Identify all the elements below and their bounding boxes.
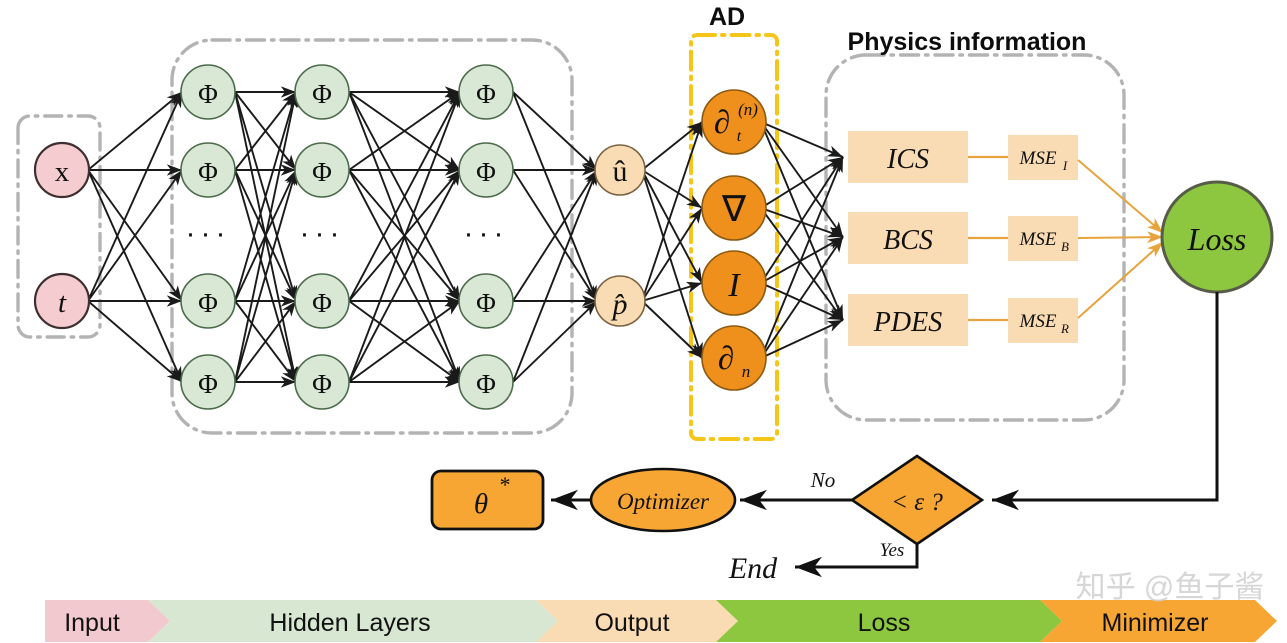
output-node-u[interactable]: û <box>595 145 645 195</box>
physics-box-pdes-label: PDES <box>873 307 942 338</box>
hidden-layer-1: Φ Φ ··· Φ Φ <box>181 65 235 409</box>
theta-sup: * <box>499 472 510 497</box>
hidden-node-label: Φ <box>312 369 332 399</box>
theta-label: θ <box>474 488 488 520</box>
loss-label: Loss <box>1187 221 1247 257</box>
hidden-layer-ellipsis: ··· <box>186 217 231 250</box>
physics-box-ics-label: ICS <box>886 144 929 175</box>
banner-segment-input[interactable]: Input <box>45 600 170 642</box>
links-physics-to-mse <box>968 157 1008 320</box>
optimizer-label: Optimizer <box>617 489 710 514</box>
ad-node-dn[interactable]: ∂ n <box>702 326 766 390</box>
no-label: No <box>810 468 836 492</box>
ad-node-dt-sub: t <box>737 128 742 145</box>
hidden-node-label: Φ <box>198 157 218 187</box>
input-node-x[interactable]: x <box>35 143 89 197</box>
physics-title: Physics information <box>848 28 1087 56</box>
links-mse-to-loss <box>1078 160 1163 318</box>
mse-box-r[interactable]: MSE R <box>1008 298 1078 343</box>
hidden-node[interactable]: Φ <box>181 274 235 328</box>
loss-circle[interactable]: Loss <box>1162 182 1272 292</box>
hidden-node[interactable]: Φ <box>459 143 513 197</box>
stage-banner: Input Hidden Layers Output Loss Minimize… <box>45 600 1277 642</box>
hidden-node[interactable]: Φ <box>181 65 235 119</box>
mse-box-i-sub: I <box>1062 158 1068 173</box>
hidden-node[interactable]: Φ <box>295 355 349 409</box>
mse-box-b-sub: B <box>1061 239 1069 254</box>
mse-box-i-label: MSE <box>1019 148 1057 169</box>
banner-segment-loss-label: Loss <box>858 609 911 637</box>
yes-label: Yes <box>880 540 905 561</box>
hidden-node-label: Φ <box>198 79 218 109</box>
mse-box-i[interactable]: MSE I <box>1008 135 1078 180</box>
ad-node-i-base: I <box>727 267 741 304</box>
diagram-canvas: AD Physics information <box>0 0 1287 643</box>
output-node-p[interactable]: p̂ <box>595 276 645 326</box>
physics-box-bcs[interactable]: BCS <box>848 212 968 264</box>
hidden-node-label: Φ <box>312 79 332 109</box>
hidden-node-label: Φ <box>312 288 332 318</box>
edges-ad-to-physics <box>761 122 843 358</box>
ad-title: AD <box>709 3 745 31</box>
hidden-layer-ellipsis: ··· <box>300 217 345 250</box>
yes-branch: Yes End <box>728 540 917 585</box>
banner-segment-output[interactable]: Output <box>536 600 738 642</box>
hidden-node[interactable]: Φ <box>459 65 513 119</box>
hidden-node-label: Φ <box>198 369 218 399</box>
banner-segment-loss[interactable]: Loss <box>716 600 1062 642</box>
hidden-node[interactable]: Φ <box>295 65 349 119</box>
hidden-layer-3: Φ Φ ··· Φ Φ <box>459 65 513 409</box>
watermark: 知乎 @鱼子酱 <box>1076 571 1265 604</box>
ad-node-dt-base: ∂ <box>714 105 730 141</box>
optimizer-node[interactable]: Optimizer <box>591 469 735 531</box>
mse-box-r-label: MSE <box>1019 311 1057 332</box>
ad-node-i[interactable]: I <box>702 251 766 315</box>
hidden-node[interactable]: Φ <box>459 274 513 328</box>
decision-diamond[interactable]: < ε ? <box>852 456 982 544</box>
hidden-node[interactable]: Φ <box>295 143 349 197</box>
physics-box-ics[interactable]: ICS <box>848 131 968 183</box>
input-node-t[interactable]: t <box>35 274 89 328</box>
banner-segment-input-label: Input <box>64 609 120 637</box>
decision-label: < ε ? <box>891 489 943 516</box>
hidden-node[interactable]: Φ <box>295 274 349 328</box>
mse-box-b[interactable]: MSE B <box>1008 216 1078 261</box>
mse-box-r-sub: R <box>1060 321 1069 336</box>
input-node-x-label: x <box>55 156 70 188</box>
hidden-node[interactable]: Φ <box>459 355 513 409</box>
ad-node-dn-base: ∂ <box>718 341 734 377</box>
physics-box-pdes[interactable]: PDES <box>848 294 968 346</box>
edges-hidden3-to-output <box>513 92 597 382</box>
hidden-layer-ellipsis: ··· <box>464 217 509 250</box>
hidden-node[interactable]: Φ <box>181 355 235 409</box>
input-node-t-label: t <box>58 287 67 319</box>
hidden-node[interactable]: Φ <box>181 143 235 197</box>
theta-box[interactable]: θ * <box>432 471 543 529</box>
banner-segment-hidden-layers[interactable]: Hidden Layers <box>148 600 558 642</box>
banner-segment-output-label: Output <box>594 609 669 637</box>
banner-segment-minimizer-label: Minimizer <box>1102 609 1209 637</box>
edges-hidden1-to-hidden2 <box>235 92 296 382</box>
output-node-p-label: p̂ <box>611 288 628 321</box>
ad-node-dn-sub: n <box>742 362 751 381</box>
physics-box-bcs-label: BCS <box>883 225 933 256</box>
edges-input-to-hidden <box>88 92 182 382</box>
ad-node-dt[interactable]: ∂ (n) t <box>702 90 766 154</box>
hidden-node-label: Φ <box>476 369 496 399</box>
edges-hidden2-to-hidden3 <box>349 92 460 382</box>
output-node-u-label: û <box>613 155 628 188</box>
hidden-node-label: Φ <box>198 288 218 318</box>
hidden-node-label: Φ <box>476 288 496 318</box>
mse-box-b-label: MSE <box>1019 229 1057 250</box>
ad-node-nabla-base: ∇ <box>721 189 747 229</box>
no-branch: No <box>740 468 852 500</box>
hidden-node-label: Φ <box>312 157 332 187</box>
hidden-layer-2: Φ Φ ··· Φ Φ <box>295 65 349 409</box>
pinn-architecture-diagram: AD Physics information <box>0 0 1287 643</box>
banner-segment-hidden-layers-label: Hidden Layers <box>269 609 430 637</box>
banner-segment-minimizer[interactable]: Minimizer <box>1040 600 1277 642</box>
ad-node-nabla[interactable]: ∇ <box>702 176 766 240</box>
hidden-node-label: Φ <box>476 79 496 109</box>
end-label: End <box>728 552 778 585</box>
hidden-node-label: Φ <box>476 157 496 187</box>
ad-node-dt-sup: (n) <box>738 100 758 119</box>
